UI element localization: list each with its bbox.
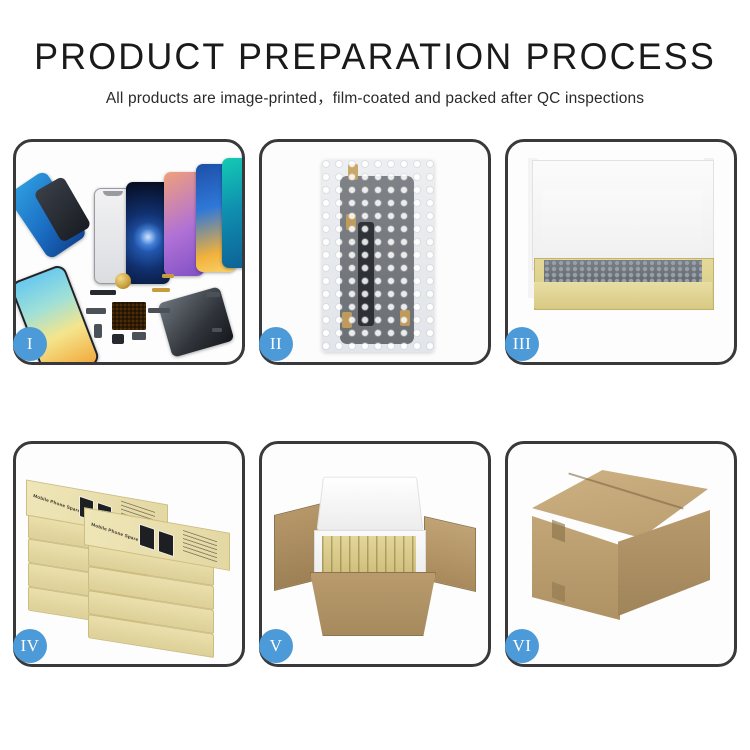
step-badge-4: IV <box>13 629 47 663</box>
step-panel-2[interactable]: II <box>259 139 491 365</box>
box-spec-lines-front <box>183 530 217 563</box>
step-3-image <box>508 142 734 362</box>
component-camera <box>94 324 102 338</box>
kraft-box-front-wall <box>534 282 712 308</box>
step-panel-4[interactable]: Mobile Phone Spare Parts Mobile Phone Sp… <box>13 441 245 667</box>
step-badge-5: V <box>259 629 293 663</box>
carton-body <box>310 572 436 636</box>
inner-boxes-row <box>322 536 416 574</box>
step-panel-5[interactable]: V <box>259 441 491 667</box>
step-6-image <box>508 444 734 664</box>
styrofoam-lid <box>317 477 424 531</box>
component-button <box>112 334 124 344</box>
speaker-component <box>115 273 131 289</box>
component-small-part <box>212 328 222 332</box>
step-badge-2: II <box>259 327 293 361</box>
step-badge-3: III <box>505 327 539 361</box>
phone-back-housing <box>158 286 235 357</box>
page-title: PRODUCT PREPARATION PROCESS <box>11 38 739 77</box>
component-cable <box>86 308 106 314</box>
component-tool-tip <box>206 292 220 297</box>
step-1-image <box>16 142 242 362</box>
step-2-image <box>262 142 488 362</box>
phone-screen-blue-tilted <box>16 170 88 260</box>
component-connector <box>148 308 170 313</box>
component-screw-strip <box>162 274 174 278</box>
step-4-image: Mobile Phone Spare Parts Mobile Phone Sp… <box>16 444 242 664</box>
bubble-texture-overlay <box>322 160 434 352</box>
page-header: PRODUCT PREPARATION PROCESS All products… <box>0 0 750 108</box>
step-panel-1[interactable]: I <box>13 139 245 365</box>
step-panel-6[interactable]: VI <box>505 441 737 667</box>
component-strip <box>90 290 116 295</box>
box-stack: Mobile Phone Spare Parts Mobile Phone Sp… <box>22 466 240 652</box>
carton-front-face <box>532 516 620 620</box>
white-foam-sheet <box>542 190 702 262</box>
step-5-image <box>262 444 488 664</box>
box-window-front-1 <box>139 524 155 551</box>
page-subtitle: All products are image-printed，film-coat… <box>0 86 750 108</box>
process-steps-grid: I II III <box>13 139 737 667</box>
step-badge-1: I <box>13 327 47 361</box>
step-panel-3[interactable]: III <box>505 139 737 365</box>
component-contact-pad <box>112 302 146 330</box>
component-gold-flex <box>152 288 170 292</box>
phone-screen-teal <box>222 158 242 268</box>
bubble-wrap-bag <box>322 160 434 352</box>
step-badge-6: VI <box>505 629 539 663</box>
box-window-front-2 <box>158 530 174 557</box>
component-bracket <box>132 332 146 340</box>
